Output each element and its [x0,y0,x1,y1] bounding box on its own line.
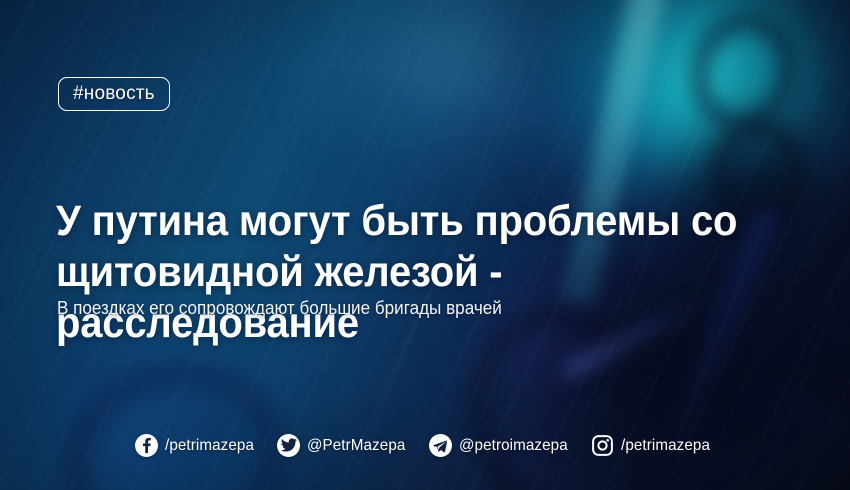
telegram-icon [429,434,452,457]
facebook-icon [135,434,158,457]
category-badge-label: #новость [73,83,155,105]
twitter-icon [277,434,300,457]
social-handle-instagram: /petrimazepa [621,437,710,455]
subtitle: В поездках его сопровождают большие бриг… [57,296,502,320]
social-handle-facebook: /petrimazepa [165,437,254,455]
card-content: #новость У путина могут быть проблемы со… [0,0,850,490]
social-handle-telegram: @petroimazepa [459,437,568,455]
social-link-instagram[interactable]: /petrimazepa [591,434,715,457]
social-link-facebook[interactable]: /petrimazepa [135,434,259,457]
headline: У путина могут быть проблемы со щитовидн… [56,196,744,349]
social-handle-twitter: @PetrMazepa [307,437,405,455]
news-card: #новость У путина могут быть проблемы со… [0,0,850,490]
instagram-icon [591,434,614,457]
social-link-telegram[interactable]: @petroimazepa [429,434,574,457]
social-links-bar: /petrimazepa @PetrMazepa @petroimazepa [0,434,850,457]
social-link-twitter[interactable]: @PetrMazepa [277,434,411,457]
category-badge: #новость [58,77,170,111]
